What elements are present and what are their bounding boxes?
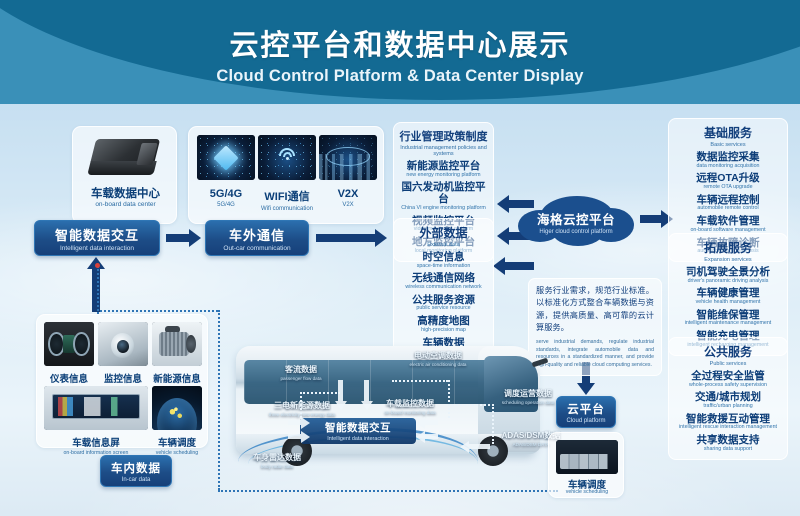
label-cn: 调度运营数据 [488, 388, 568, 399]
label-cn: 智能数据交互 [55, 225, 139, 244]
data-center-box-icon [89, 137, 161, 181]
label-en: electric air conditioning data [392, 362, 484, 367]
description-cn: 服务行业需求，规范行业标准。以标准化方式整合车辆数据与资源，提供高质量、高可靠的… [536, 285, 654, 334]
bus-label-passenger-flow: 客流数据 passenger flow data [264, 364, 338, 381]
list-item[interactable]: 全过程安全监管 whole-process safety supervision [673, 370, 783, 388]
label-cn: 车内数据 [111, 460, 161, 476]
label-cn: 客流数据 [264, 364, 338, 375]
item-cn: 车载信息屏 [44, 435, 148, 449]
list-item[interactable]: 共享数据支持 sharing data support [673, 434, 783, 452]
item-en: remote OTA upgrade [673, 185, 783, 191]
in-car-item-information-screen[interactable]: 车载信息屏 on-board information screen [44, 386, 148, 456]
onboard-data-center-label-en: on-board data center [73, 201, 178, 208]
card-header-cn: 拓展服务 [673, 239, 783, 256]
list-item[interactable]: 数据监控采集 data monitoring acquisition [673, 151, 783, 169]
button-out-car-communication[interactable]: 车外通信 Out-car communication [205, 220, 309, 256]
item-en: traffic/urban planning [673, 404, 783, 410]
list-item[interactable]: 新能源监控平台 new energy monitoring platform [398, 160, 489, 178]
comm-card-v2x[interactable]: V2X V2X [319, 135, 377, 208]
bus-label-body-radar: 车身雷达数据 body radar data [240, 452, 314, 469]
label-cn: 车身雷达数据 [240, 452, 314, 463]
item-cn: 车辆健康管理 [673, 287, 783, 299]
card-header-cn: 行业管理政策制度 [398, 128, 489, 144]
card-header-cn: 外部数据 [398, 224, 489, 241]
card-header-cn: 公共服务 [673, 343, 783, 360]
cloud-node-label-en: Higer cloud control platform [518, 229, 634, 235]
label-cn: 电动空调数据 [392, 350, 484, 361]
comm-wifi-label-en: Wifi communication [258, 206, 316, 212]
page-title-en: Cloud Control Platform & Data Center Dis… [0, 67, 800, 86]
list-item[interactable]: 车辆健康管理 vehicle health management [673, 287, 783, 305]
arrow-right-icon [166, 234, 190, 242]
card-header-en: Public services [673, 361, 783, 367]
label-cn: 车外通信 [229, 225, 285, 244]
arrow-right-icon [640, 215, 662, 223]
item-cn: 全过程安全监管 [673, 370, 783, 382]
item-cn: 车载软件管理 [673, 215, 783, 227]
in-car-item-vehicle-scheduling[interactable]: 车辆调度 vehicle scheduling [152, 386, 202, 456]
item-cn: 国六发动机监控平台 [398, 181, 489, 205]
item-en: wireless communication network [398, 285, 489, 291]
label-cn: 智能数据交互 [325, 420, 391, 435]
item-cn: 无线通信网络 [398, 272, 489, 284]
comm-wifi-label-cn: WIFI通信 [258, 188, 316, 204]
item-cn: 智能救援互动管理 [673, 413, 783, 425]
item-en: sharing data support [673, 447, 783, 453]
cloud-node-label-cn: 海格云控平台 [518, 209, 634, 228]
comm-5g4g-label-cn: 5G/4G [197, 188, 255, 200]
bus-label-air-conditioning: 电动空调数据 electric air conditioning data [392, 350, 484, 367]
item-cn: 时空信息 [398, 251, 489, 263]
item-cn: 仪表信息 [44, 371, 94, 385]
label-en: on-board monitoring data [372, 410, 448, 415]
onboard-data-center-label-cn: 车载数据中心 [73, 185, 178, 201]
item-en: driver's panoramic driving analysis [673, 279, 783, 285]
dotted-connector [97, 266, 99, 314]
comm-v2x-label-cn: V2X [319, 188, 377, 200]
item-cn: 新能源监控平台 [398, 160, 489, 172]
item-en: vehicle health management [673, 300, 783, 306]
item-en: data monitoring acquisition [673, 164, 783, 170]
page-title-cn: 云控平台和数据中心展示 [0, 22, 800, 64]
item-en: intelligent rescue interaction managemen… [673, 425, 783, 431]
label-en: Intelligent data interaction [60, 245, 134, 252]
onboard-data-center-card[interactable]: 车载数据中心 on-board data center [72, 126, 177, 224]
item-en: space-time information [398, 264, 489, 270]
button-cloud-platform[interactable]: 云平台 Cloud platform [556, 396, 616, 428]
card-header-en: Industrial management policies and syste… [398, 145, 489, 157]
item-en: China VI engine monitoring platform [398, 206, 489, 212]
bus-dotted-connector [492, 404, 494, 444]
button-in-car-data[interactable]: 车内数据 In-car data [100, 455, 172, 487]
label-cn: 云平台 [567, 401, 605, 417]
list-item[interactable]: 公共服务资源 public service resource [398, 294, 489, 312]
list-item[interactable]: 国六发动机监控平台 China VI engine monitoring pla… [398, 181, 489, 211]
item-en: whole-process safety supervision [673, 383, 783, 389]
list-item[interactable]: 远程OTA升级 remote OTA upgrade [673, 172, 783, 190]
label-en: vehicle scheduling [549, 489, 625, 495]
label-cn: 车载监控数据 [372, 398, 448, 409]
card-header-en: External data [398, 242, 489, 248]
list-item[interactable]: 交通/城市规划 traffic/urban planning [673, 391, 783, 409]
data-flow-arrow-icon [468, 444, 490, 449]
comm-card-5g4g[interactable]: 5G/4G 5G/4G [197, 135, 255, 208]
item-cn: 司机驾驶全景分析 [673, 266, 783, 278]
dotted-connector [218, 310, 220, 490]
item-en: public service resource [398, 306, 489, 312]
bus-dotted-connector [300, 392, 302, 418]
item-cn: 远程OTA升级 [673, 172, 783, 184]
in-car-data-panel: 仪表信息 instrument information 监控信息 monitor… [36, 314, 208, 448]
item-cn: 监控信息 [98, 371, 148, 385]
item-cn: 新能源信息 [152, 371, 202, 385]
communication-cards-group: 5G/4G 5G/4G WIFI通信 Wifi communication V2… [188, 126, 384, 224]
instrument-cluster-icon [44, 322, 94, 366]
label-en: Out-car communication [223, 245, 290, 252]
dotted-connector [100, 310, 218, 312]
electric-motor-icon [152, 322, 202, 366]
arrow-right-icon [316, 234, 376, 242]
list-item[interactable]: 智能救援互动管理 intelligent rescue interaction … [673, 413, 783, 431]
list-item[interactable]: 智能维保管理 intelligent maintenance managemen… [673, 309, 783, 327]
label-en: In-car data [122, 477, 151, 483]
data-flow-arrow-icon [424, 434, 438, 439]
bus-dotted-connector [448, 380, 450, 418]
label-en: body radar data [240, 464, 314, 469]
public-services-card: 公共服务 Public services 全过程安全监管 whole-proce… [668, 337, 788, 460]
list-item[interactable]: 车载软件管理 on-board software management [673, 215, 783, 233]
data-flow-arrow-icon [288, 434, 302, 439]
data-flow-arrow-icon [364, 380, 369, 402]
page-header: 云控平台和数据中心展示 Cloud Control Platform & Dat… [0, 0, 800, 104]
item-cn: 公共服务资源 [398, 294, 489, 306]
wide-screen-icon [44, 386, 148, 430]
item-cn: 车辆调度 [152, 435, 202, 449]
vehicle-scheduling-card[interactable]: 车辆调度 vehicle scheduling [548, 432, 624, 498]
card-header-en: Basic services [673, 142, 783, 148]
item-cn: 交通/城市规划 [673, 391, 783, 403]
item-cn: 高精度地图 [398, 315, 489, 327]
card-header-cn: 基础服务 [673, 124, 783, 141]
button-intelligent-data-interaction[interactable]: 智能数据交互 Intelligent data interaction [34, 220, 160, 256]
comm-v2x-label-en: V2X [319, 202, 377, 208]
comm-card-wifi[interactable]: WIFI通信 Wifi communication [258, 135, 316, 212]
bus-label-onboard-monitoring: 车载监控数据 on-board monitoring data [372, 398, 448, 415]
label-en: passenger flow data [264, 376, 338, 381]
bus-dotted-connector [392, 380, 448, 382]
item-en: new energy monitoring platform [398, 173, 489, 179]
item-cn: 共享数据支持 [673, 434, 783, 446]
list-item[interactable]: 时空信息 space-time information [398, 251, 489, 269]
data-flow-arrow-icon [288, 420, 302, 425]
list-item[interactable]: 无线通信网络 wireless communication network [398, 272, 489, 290]
dotted-connector [218, 490, 558, 492]
city-network-icon [319, 135, 377, 180]
card-header-en: Expansion services [673, 257, 783, 263]
wifi-icon [258, 135, 316, 180]
label-en: Cloud platform [566, 418, 605, 424]
higer-cloud-control-platform-node[interactable]: 海格云控平台 Higer cloud control platform [518, 196, 634, 252]
data-flow-arrow-icon [424, 420, 438, 425]
bus-dotted-connector [300, 392, 340, 394]
bus-depot-icon [556, 440, 618, 474]
dome-camera-icon [98, 322, 148, 366]
item-en: automobile remote control [673, 206, 783, 212]
item-cn: 车辆远程控制 [673, 194, 783, 206]
list-item[interactable]: 司机驾驶全景分析 driver's panoramic driving anal… [673, 266, 783, 284]
bus-label-intelligent-data-interaction: 智能数据交互 Intelligent data interaction [300, 418, 416, 444]
bus-dotted-connector [452, 404, 494, 406]
arrow-left-icon [504, 262, 534, 270]
chip-network-icon [197, 135, 255, 180]
item-en: intelligent maintenance management [673, 321, 783, 327]
list-item[interactable]: 车辆远程控制 automobile remote control [673, 194, 783, 212]
data-flow-arrow-icon [338, 380, 343, 402]
connector-dot [95, 263, 100, 268]
label-en: Intelligent data interaction [327, 436, 388, 442]
globe-data-icon [152, 386, 202, 430]
comm-5g4g-label-en: 5G/4G [197, 202, 255, 208]
item-cn: 智能维保管理 [673, 309, 783, 321]
item-cn: 数据监控采集 [673, 151, 783, 163]
